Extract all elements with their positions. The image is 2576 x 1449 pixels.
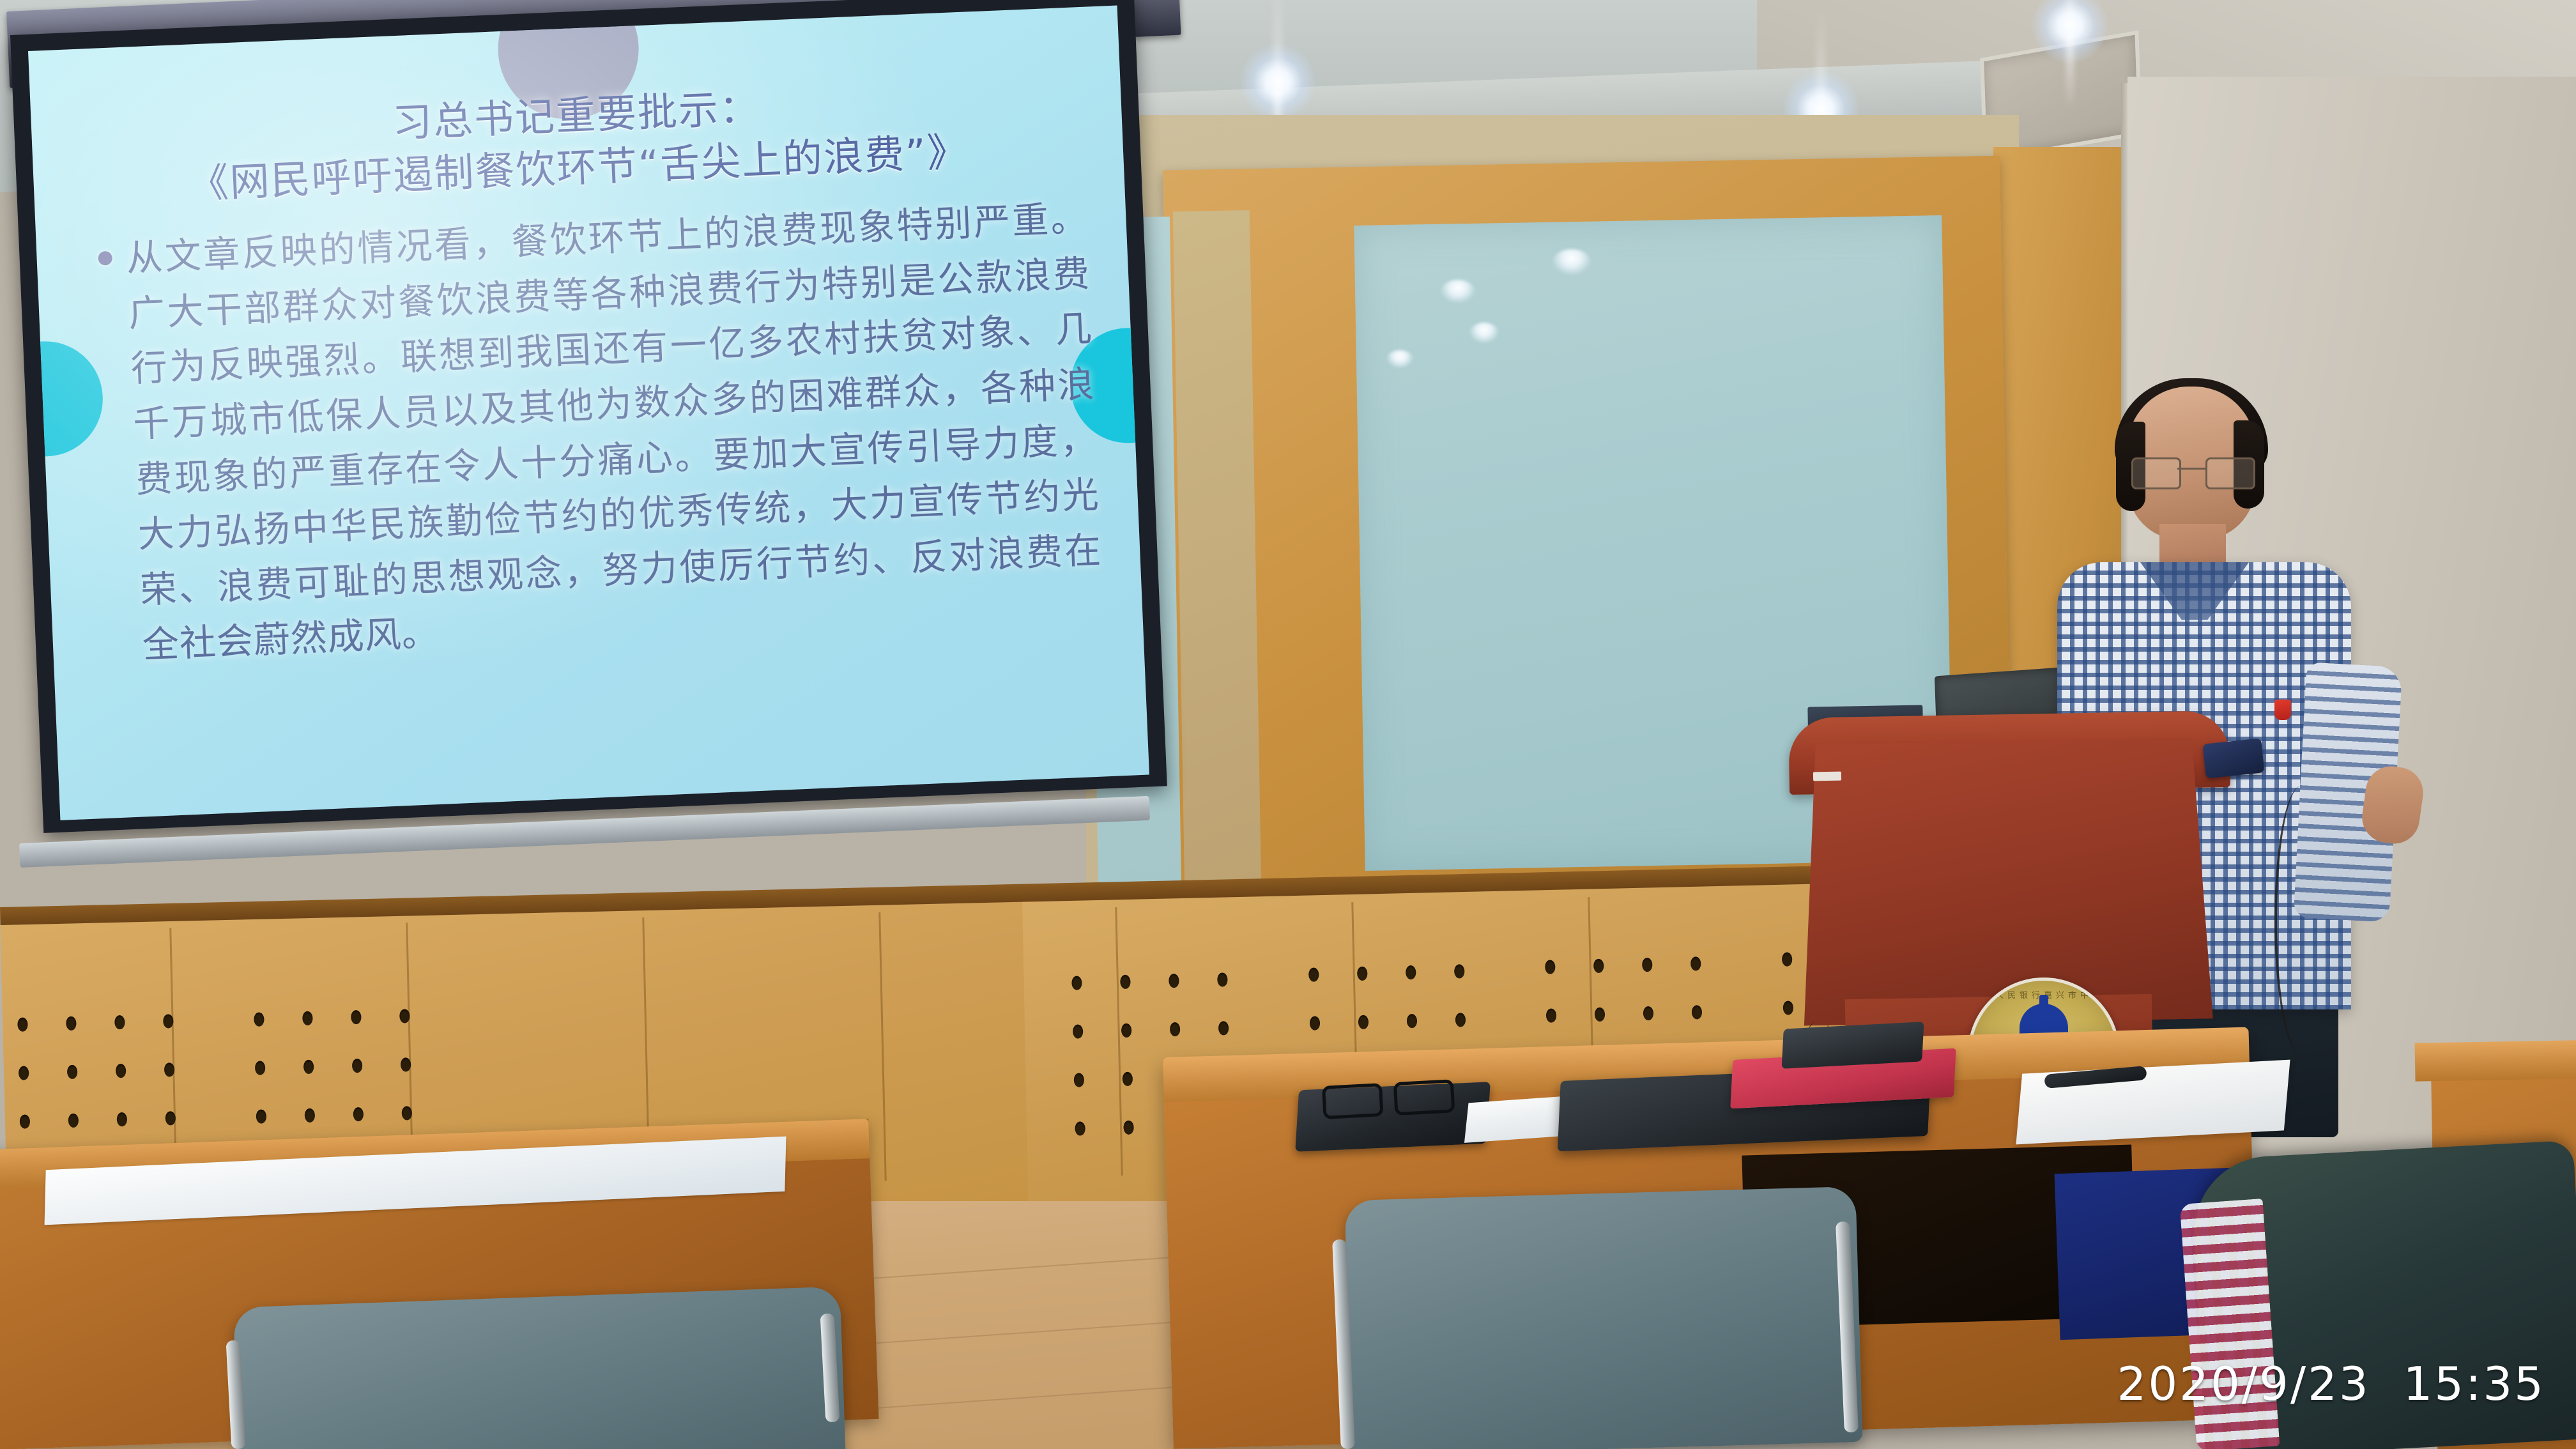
whiteboard-light-reflection (1386, 350, 1413, 368)
whiteboard-light-reflection (1552, 249, 1591, 275)
slide-body-block: 从文章反映的情况看，餐饮环节上的浪费现象特别严重。广大干部群众对餐饮浪费等各种浪… (97, 191, 1105, 675)
podium-label-plate (1813, 772, 1841, 781)
whiteboard-side-panel (1173, 210, 1261, 889)
podium (1799, 737, 2213, 1025)
chair-back-center (1345, 1186, 1863, 1449)
conference-room-photo: 习总书记重要批示： 《网民呼吁遏制餐饮环节“舌尖上的浪费”》 从文章反映的情况看… (0, 0, 2576, 1449)
slide-title: 习总书记重要批示： 《网民呼吁遏制餐饮环节“舌尖上的浪费”》 (31, 66, 1124, 217)
remote-control (1782, 1022, 1924, 1069)
ceiling-spotlight (1239, 43, 1316, 120)
microphone (2202, 738, 2264, 778)
camera-timestamp: 2020/9/23 15:35 (2117, 1357, 2545, 1411)
right-side-desk-top (2414, 1039, 2576, 1081)
slide-body-text: 从文章反映的情况看，餐饮环节上的浪费现象特别严重。广大干部群众对餐饮浪费等各种浪… (125, 191, 1105, 673)
whiteboard-light-reflection (1469, 323, 1499, 343)
party-pin-badge (2274, 700, 2291, 720)
bullet-dot-icon (98, 251, 112, 266)
eyeglasses-icon (1322, 1076, 1471, 1118)
glasses-icon (2131, 457, 2251, 487)
paper-stack (2016, 1060, 2290, 1145)
power-cable (2274, 786, 2328, 1054)
green-bag-trim (2180, 1199, 2280, 1449)
whiteboard-light-reflection (1441, 280, 1475, 303)
projected-slide: 习总书记重要批示： 《网民呼吁遏制餐饮环节“舌尖上的浪费”》 从文章反映的情况看… (28, 6, 1149, 820)
chair-back-left (233, 1287, 847, 1449)
